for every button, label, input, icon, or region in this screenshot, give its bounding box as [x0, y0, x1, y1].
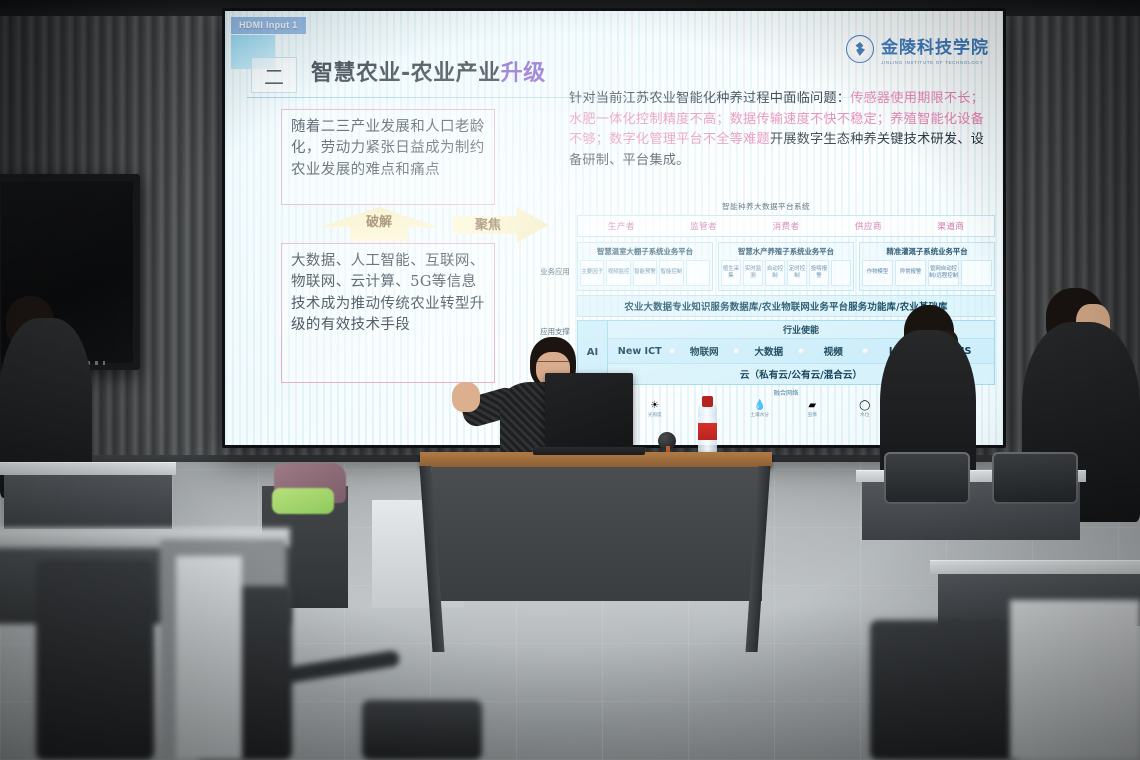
- problem-text-box: 随着二三产业发展和人口老龄化，劳动力紧张日益成为制约农业发展的难点和痛点: [281, 109, 495, 205]
- laptop-keyboard[interactable]: [533, 447, 645, 455]
- platform-cell-empty: [961, 260, 992, 286]
- foreground-panel: [176, 556, 242, 760]
- slide-title-main: 智慧农业-农业产业: [311, 61, 501, 86]
- university-crest-icon: [846, 35, 874, 63]
- side-label-business: 业务应用: [537, 267, 573, 276]
- slide-title-highlight: 升级: [501, 61, 546, 86]
- objective-paragraph: 针对当前江苏农业智能化种养过程中面临问题：传感器使用期限不长；水肥一体化控制精度…: [569, 89, 989, 171]
- sun-icon: ☀: [630, 399, 681, 412]
- slide-number: 二: [251, 57, 297, 93]
- paragraph-lead: 针对当前江苏农业智能化种养过程中面临问题：: [569, 91, 850, 106]
- soil-moisture-icon: 💧: [735, 399, 786, 412]
- sensor-label: 光照度: [630, 412, 681, 418]
- foreground-chair-right: [870, 620, 1020, 760]
- foreground-chair-left: [36, 560, 154, 760]
- student-desk-top: [930, 560, 1140, 574]
- roles-row: 生产者 监管者 消费者 供应商 渠道商: [577, 215, 995, 237]
- presenter-glasses: [536, 361, 570, 367]
- platform-row: 智慧温室大棚子系统业务平台 主要因子 视频监控 智能预警 智能控制: [577, 242, 995, 291]
- role-item: 消费者: [745, 220, 827, 232]
- chair-backrest[interactable]: [992, 452, 1078, 504]
- bottle-label: [698, 423, 717, 440]
- role-item: 供应商: [827, 220, 909, 232]
- platform-cell: 异常报警: [895, 260, 926, 286]
- platform-cell: 投喂报警: [809, 260, 829, 286]
- platform-title: 智慧水产养殖子系统业务平台: [721, 246, 851, 257]
- breakthrough-arrow-label: 破解: [319, 211, 439, 230]
- slide-title: 智慧农业-农业产业升级: [311, 55, 546, 87]
- platform-cell: 作物模型: [862, 260, 893, 286]
- focus-arrow-label: 聚焦: [453, 214, 523, 233]
- sensor-item: ▰ 虫情: [787, 399, 838, 418]
- enablement-item: New ICT: [612, 346, 668, 357]
- bullet-dot-icon: [668, 347, 677, 356]
- sensor-item: 💧 土壤水分: [735, 399, 786, 418]
- role-item: 渠道商: [910, 220, 992, 232]
- logo-name-cn: 金陵科技学院: [881, 33, 989, 58]
- logo-name-en: JINLING INSTITUTE OF TECHNOLOGY: [881, 60, 989, 65]
- platform-title: 智慧温室大棚子系统业务平台: [580, 246, 710, 257]
- bullet-dot-icon: [732, 347, 741, 356]
- side-label-support: 应用支撑: [537, 327, 573, 336]
- bullet-dot-icon: [797, 347, 806, 356]
- classroom-scene: HDMI Input 1 二 智慧农业-农业产业升级 金陵科技学院 JINLIN…: [0, 0, 1140, 760]
- platform-irrigation: 精准灌溉子系统业务平台 作物模型 异常报警 管网自动控制/远程控制: [859, 242, 995, 291]
- hdmi-input-badge: HDMI Input 1: [231, 17, 306, 34]
- platform-cell-empty: [686, 260, 710, 286]
- platform-title: 精准灌溉子系统业务平台: [862, 246, 992, 257]
- sensor-label: 虫情: [787, 412, 838, 418]
- enablement-item: 大数据: [741, 344, 797, 358]
- platform-cells: 植生采集 实时监测 自动控制 定时控制 投喂报警: [721, 260, 851, 286]
- foreground-desk-right: [1010, 600, 1140, 760]
- platform-cell: 主要因子: [580, 260, 604, 286]
- platform-greenhouse: 智慧温室大棚子系统业务平台 主要因子 视频监控 智能预警 智能控制: [577, 242, 713, 291]
- platform-cell: 定时控制: [787, 260, 807, 286]
- platform-cell: 植生采集: [721, 260, 741, 286]
- platform-cell: 智能预警: [633, 260, 657, 286]
- platform-aquaculture: 智慧水产养殖子系统业务平台 植生采集 实时监测 自动控制 定时控制 投喂报警: [718, 242, 854, 291]
- bullet-dot-icon: [861, 347, 870, 356]
- bottle-cap[interactable]: [702, 396, 713, 407]
- platform-cell: 自动控制: [765, 260, 785, 286]
- platform-cell: 管网自动控制/远程控制: [928, 260, 959, 286]
- platform-cells: 主要因子 视频监控 智能预警 智能控制: [580, 260, 710, 286]
- student-desk-top: [0, 462, 176, 475]
- university-logo: 金陵科技学院 JINLING INSTITUTE OF TECHNOLOGY: [846, 33, 989, 65]
- sensor-item: ☀ 光照度: [630, 399, 681, 418]
- architecture-title: 智能种养大数据平台系统: [537, 201, 995, 212]
- insect-trap-icon: ▰: [787, 399, 838, 412]
- platform-cells: 作物模型 异常报警 管网自动控制/远程控制: [862, 260, 992, 286]
- lectern-desk-body: [432, 467, 762, 601]
- enablement-item: 视频: [806, 344, 862, 358]
- green-cloth: [272, 488, 334, 514]
- role-item: 生产者: [580, 220, 662, 232]
- role-item: 监管者: [662, 220, 744, 232]
- platform-cell: 视频监控: [606, 260, 630, 286]
- enablement-item: 物联网: [677, 344, 733, 358]
- presenter-hand: [452, 382, 480, 412]
- platform-cell-empty: [831, 260, 851, 286]
- technology-text-box: 大数据、人工智能、互联网、物联网、云计算、5G等信息技术成为推动传统农业转型升级…: [281, 243, 495, 383]
- foreground-chair-bottom: [362, 700, 482, 760]
- chair-backrest[interactable]: [884, 452, 970, 504]
- platform-cell: 实时监测: [743, 260, 763, 286]
- platform-cell: 智能控制: [659, 260, 683, 286]
- laptop-screen[interactable]: [545, 373, 633, 451]
- student-desk-front: [4, 475, 172, 529]
- sensor-label: 土壤水分: [735, 412, 786, 418]
